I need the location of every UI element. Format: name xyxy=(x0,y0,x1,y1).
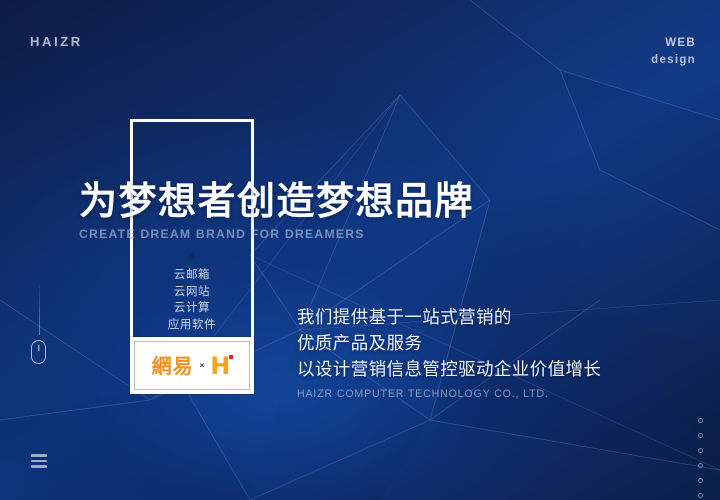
hamburger-bar xyxy=(31,454,47,457)
web-design-label: WEB design xyxy=(651,35,696,68)
body-line-1: 我们提供基于一站式营销的 xyxy=(297,305,601,331)
body-copy-block: 我们提供基于一站式营销的 优质产品及服务 以设计营销信息管控驱动企业价值增长 H… xyxy=(297,305,601,400)
design-label: design xyxy=(651,52,696,69)
pagination-dot[interactable] xyxy=(698,418,703,423)
slide-pagination-dots[interactable] xyxy=(698,418,703,498)
red-dot-accent-icon xyxy=(229,355,234,360)
mouse-scroll-icon[interactable] xyxy=(31,340,46,364)
web-label: WEB xyxy=(651,35,696,52)
partnership-x-separator: × xyxy=(200,361,205,370)
cross-marker-icon: ✕ xyxy=(130,252,254,261)
partner-logo-card-border: 網易 × H xyxy=(134,341,250,390)
menu-item-app-software[interactable]: 应用软件 xyxy=(130,317,254,334)
menu-item-cloud-mail[interactable]: 云邮箱 xyxy=(130,267,254,284)
menu-item-cloud-compute[interactable]: 云计算 xyxy=(130,300,254,317)
headline-block: 为梦想者创造梦想品牌 CREATE DREAM BRAND FOR DREAME… xyxy=(79,182,474,241)
polygon-background-decoration xyxy=(0,0,720,500)
hamburger-bar xyxy=(31,465,47,468)
service-menu[interactable]: 云邮箱 云网站 云计算 应用软件 xyxy=(130,267,254,333)
haizr-h-letter: H xyxy=(210,352,230,380)
company-name-line: HAIZR COMPUTER TECHNOLOGY CO., LTD. xyxy=(297,388,601,400)
netease-logo: 網易 xyxy=(152,356,194,376)
hamburger-menu-icon[interactable] xyxy=(31,454,47,468)
page-title: 为梦想者创造梦想品牌 xyxy=(79,182,474,220)
brand-logo[interactable]: HAIZR xyxy=(30,34,83,49)
pagination-dot[interactable] xyxy=(698,448,703,453)
pagination-dot[interactable] xyxy=(698,433,703,438)
haizr-h-logo: H xyxy=(210,354,232,378)
hamburger-bar xyxy=(31,460,47,463)
page-subtitle: CREATE DREAM BRAND FOR DREAMERS xyxy=(79,227,474,241)
pagination-dot[interactable] xyxy=(698,478,703,483)
body-line-3: 以设计营销信息管控驱动企业价值增长 xyxy=(297,357,601,383)
scroll-rail-line xyxy=(39,285,40,335)
partner-logo-card[interactable]: 網易 × H xyxy=(130,337,254,394)
pagination-dot[interactable] xyxy=(698,463,703,468)
left-panel: ✕ 云邮箱 云网站 云计算 应用软件 網易 × H xyxy=(130,119,254,394)
pagination-dot[interactable] xyxy=(698,493,703,498)
body-line-2: 优质产品及服务 xyxy=(297,331,601,357)
menu-item-cloud-website[interactable]: 云网站 xyxy=(130,284,254,301)
hero-banner: HAIZR WEB design ✕ 云邮箱 云网站 云计算 应用软件 xyxy=(0,0,720,500)
